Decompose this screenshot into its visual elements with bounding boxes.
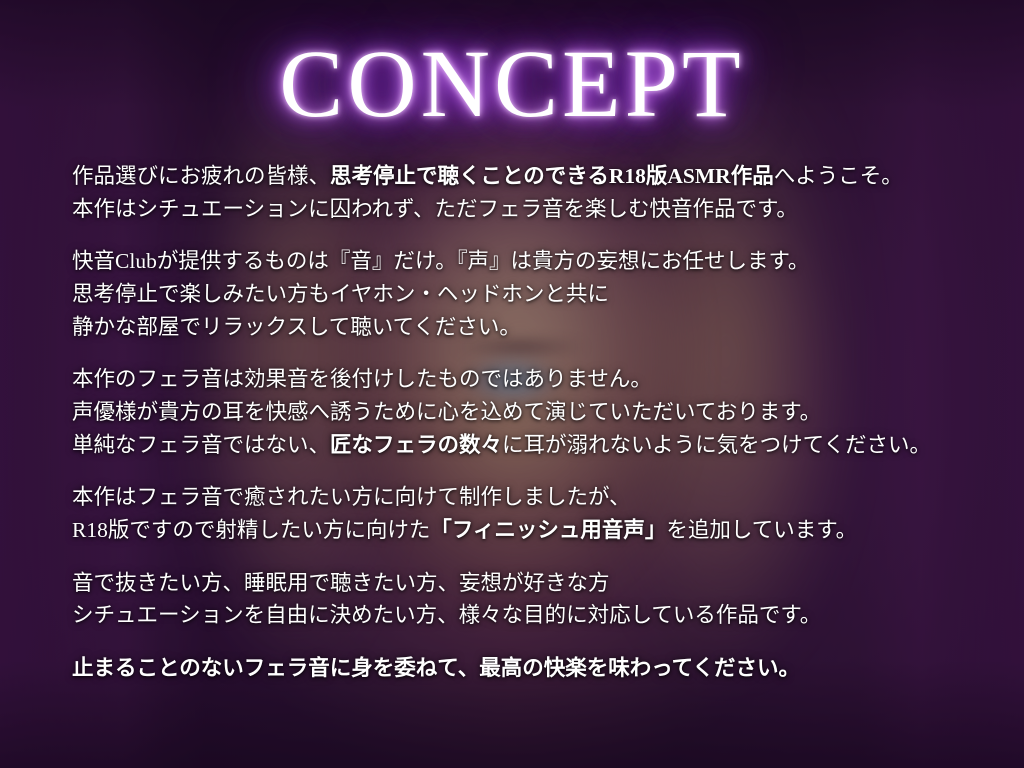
body-text-run: 本作のフェラ音は効果音を後付けしたものではありません。 bbox=[72, 367, 652, 391]
text-line: 止まることのないフェラ音に身を委ねて、最高の快楽を味わってください。 bbox=[72, 652, 962, 685]
concept-slide: CONCEPT 作品選びにお疲れの皆様、思考停止で聴くことのできるR18版ASM… bbox=[0, 0, 1024, 768]
text-line: 声優様が貴方の耳を快感へ誘うために心を込めて演じていただいております。 bbox=[72, 396, 962, 429]
body-text-run: シチュエーションを自由に決めたい方、様々な目的に対応している作品です。 bbox=[72, 603, 821, 627]
body-text-run: 声優様が貴方の耳を快感へ誘うために心を込めて演じていただいております。 bbox=[72, 400, 821, 424]
text-line: 単純なフェラ音ではない、匠なフェラの数々に耳が溺れないように気をつけてください。 bbox=[72, 429, 962, 462]
text-line: 音で抜きたい方、睡眠用で聴きたい方、妄想が好きな方 bbox=[72, 567, 962, 600]
emphasis-text: 「フィニッシュ用音声」 bbox=[430, 518, 666, 542]
text-line: 快音Clubが提供するものは『音』だけ。『声』は貴方の妄想にお任せします。 bbox=[72, 245, 962, 278]
paragraph-closing: 止まることのないフェラ音に身を委ねて、最高の快楽を味わってください。 bbox=[72, 652, 962, 685]
emphasis-text: 止まることのないフェラ音に身を委ねて、最高の快楽を味わってください。 bbox=[72, 656, 800, 680]
body-text-run: へようこそ。 bbox=[774, 164, 903, 188]
concept-body: 作品選びにお疲れの皆様、思考停止で聴くことのできるR18版ASMR作品へようこそ… bbox=[72, 160, 962, 685]
body-text-run: 静かな部屋でリラックスして聴いてください。 bbox=[72, 315, 521, 339]
paragraph-usecases: 音で抜きたい方、睡眠用で聴きたい方、妄想が好きな方シチュエーションを自由に決めた… bbox=[72, 567, 962, 632]
body-text-run: 音で抜きたい方、睡眠用で聴きたい方、妄想が好きな方 bbox=[72, 571, 610, 595]
paragraph-performance: 本作のフェラ音は効果音を後付けしたものではありません。声優様が貴方の耳を快感へ誘… bbox=[72, 363, 962, 461]
text-line: 本作のフェラ音は効果音を後付けしたものではありません。 bbox=[72, 363, 962, 396]
body-text-run: に耳が溺れないように気をつけてください。 bbox=[502, 433, 931, 457]
body-text-run: 本作はシチュエーションに囚われず、ただフェラ音を楽しむ快音作品です。 bbox=[72, 197, 798, 221]
body-text-run: を追加しています。 bbox=[666, 518, 857, 542]
text-line: R18版ですので射精したい方に向けた「フィニッシュ用音声」を追加しています。 bbox=[72, 514, 962, 547]
text-line: 本作はシチュエーションに囚われず、ただフェラ音を楽しむ快音作品です。 bbox=[72, 193, 962, 226]
text-line: シチュエーションを自由に決めたい方、様々な目的に対応している作品です。 bbox=[72, 599, 962, 632]
paragraph-finish-voice: 本作はフェラ音で癒されたい方に向けて制作しましたが、R18版ですので射精したい方… bbox=[72, 481, 962, 546]
text-line: 静かな部屋でリラックスして聴いてください。 bbox=[72, 311, 962, 344]
body-text-run: R18版ですので射精したい方に向けた bbox=[72, 518, 430, 542]
body-text-run: 本作はフェラ音で癒されたい方に向けて制作しましたが、 bbox=[72, 485, 631, 509]
body-text-run: 快音Clubが提供するものは『音』だけ。『声』は貴方の妄想にお任せします。 bbox=[72, 249, 809, 273]
paragraph-offering: 快音Clubが提供するものは『音』だけ。『声』は貴方の妄想にお任せします。思考停… bbox=[72, 245, 962, 343]
paragraph-intro: 作品選びにお疲れの皆様、思考停止で聴くことのできるR18版ASMR作品へようこそ… bbox=[72, 160, 962, 225]
text-line: 思考停止で楽しみたい方もイヤホン・ヘッドホンと共に bbox=[72, 278, 962, 311]
text-line: 作品選びにお疲れの皆様、思考停止で聴くことのできるR18版ASMR作品へようこそ… bbox=[72, 160, 962, 193]
emphasis-text: 思考停止で聴くことのできるR18版ASMR作品 bbox=[330, 164, 774, 188]
page-title: CONCEPT bbox=[0, 36, 1024, 132]
emphasis-text: 匠なフェラの数々 bbox=[330, 433, 502, 457]
body-text-run: 単純なフェラ音ではない、 bbox=[72, 433, 330, 457]
body-text-run: 作品選びにお疲れの皆様、 bbox=[72, 164, 330, 188]
text-line: 本作はフェラ音で癒されたい方に向けて制作しましたが、 bbox=[72, 481, 962, 514]
body-text-run: 思考停止で楽しみたい方もイヤホン・ヘッドホンと共に bbox=[72, 282, 609, 306]
